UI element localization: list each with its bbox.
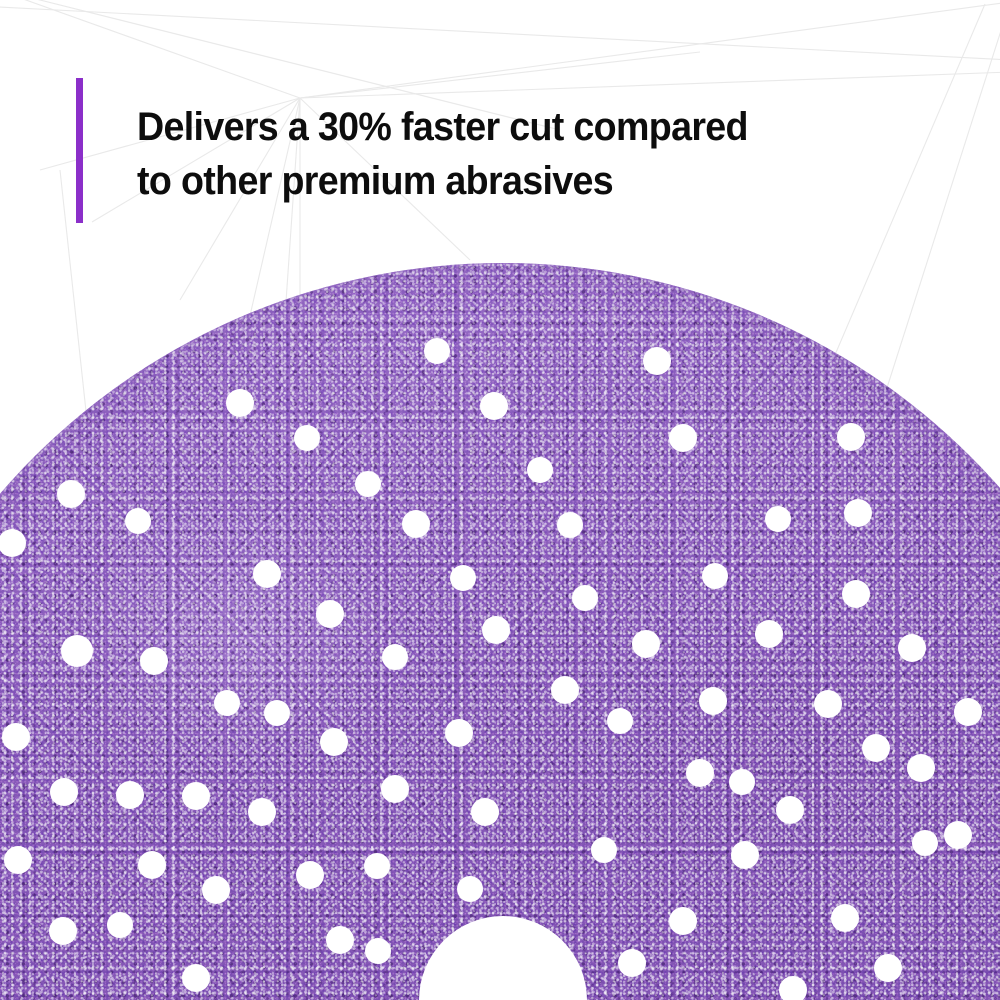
dust-extraction-hole <box>140 647 168 675</box>
dust-extraction-hole <box>320 728 348 756</box>
dust-extraction-hole <box>382 644 408 670</box>
dust-extraction-hole <box>49 917 77 945</box>
dust-extraction-hole <box>214 690 240 716</box>
dust-extraction-hole <box>0 529 26 557</box>
dust-extraction-hole <box>702 563 728 589</box>
dust-extraction-hole <box>125 508 151 534</box>
dust-extraction-hole <box>471 798 499 826</box>
dust-extraction-hole <box>450 565 476 591</box>
dust-extraction-hole <box>844 499 872 527</box>
dust-extraction-hole <box>842 580 870 608</box>
dust-extraction-hole <box>607 708 633 734</box>
dust-extraction-hole <box>779 976 807 1000</box>
dust-extraction-hole <box>551 676 579 704</box>
headline-line-1: Delivers a 30% faster cut compared <box>137 100 795 154</box>
headline-line-2: to other premium abrasives <box>137 154 795 208</box>
dust-extraction-hole <box>954 698 982 726</box>
dust-extraction-hole <box>944 821 972 849</box>
dust-extraction-hole <box>50 778 78 806</box>
dust-extraction-hole <box>618 949 646 977</box>
dust-extraction-hole <box>57 480 85 508</box>
dust-extraction-hole <box>264 700 290 726</box>
dust-extraction-hole <box>669 424 697 452</box>
dust-extraction-hole <box>837 423 865 451</box>
dust-extraction-hole <box>898 634 926 662</box>
dust-extraction-hole <box>424 338 450 364</box>
dust-extraction-hole <box>699 687 727 715</box>
dust-extraction-hole <box>182 782 210 810</box>
dust-extraction-hole <box>202 876 230 904</box>
dust-extraction-hole <box>226 389 254 417</box>
dust-extraction-hole <box>755 620 783 648</box>
dust-extraction-hole <box>182 964 210 992</box>
dust-extraction-hole <box>248 798 276 826</box>
abrasive-disc-surface <box>0 263 1000 1000</box>
dust-extraction-hole <box>4 846 32 874</box>
dust-extraction-hole <box>814 690 842 718</box>
dust-extraction-hole <box>686 759 714 787</box>
dust-extraction-hole <box>445 719 473 747</box>
dust-extraction-hole <box>669 907 697 935</box>
dust-extraction-hole <box>591 837 617 863</box>
dust-extraction-hole <box>61 635 93 667</box>
dust-extraction-hole <box>294 425 320 451</box>
dust-extraction-hole <box>874 954 902 982</box>
dust-extraction-hole <box>402 510 430 538</box>
dust-extraction-hole <box>482 616 510 644</box>
dust-extraction-hole <box>527 457 553 483</box>
dust-extraction-hole <box>912 830 938 856</box>
dust-extraction-hole <box>138 851 166 879</box>
dust-extraction-hole <box>731 841 759 869</box>
dust-extraction-hole <box>355 471 381 497</box>
dust-extraction-hole <box>381 775 409 803</box>
feature-headline: Delivers a 30% faster cut compared to ot… <box>137 100 837 208</box>
dust-extraction-hole <box>776 796 804 824</box>
dust-extraction-hole <box>116 781 144 809</box>
dust-extraction-hole <box>365 938 391 964</box>
dust-extraction-hole <box>765 506 791 532</box>
dust-extraction-hole <box>296 861 324 889</box>
dust-extraction-hole <box>457 876 483 902</box>
dust-extraction-hole <box>729 769 755 795</box>
dust-extraction-hole <box>572 585 598 611</box>
dust-extraction-hole <box>364 853 390 879</box>
dust-extraction-hole <box>480 392 508 420</box>
dust-extraction-hole <box>316 600 344 628</box>
product-feature-image: Delivers a 30% faster cut compared to ot… <box>0 0 1000 1000</box>
dust-extraction-hole <box>632 630 660 658</box>
purple-accent-bar <box>76 78 83 223</box>
dust-extraction-hole <box>831 904 859 932</box>
dust-extraction-hole <box>2 723 30 751</box>
dust-extraction-hole <box>557 512 583 538</box>
dust-extraction-hole <box>107 912 133 938</box>
center-mounting-hole <box>419 916 587 1000</box>
dust-extraction-hole <box>907 754 935 782</box>
dust-extraction-hole <box>862 734 890 762</box>
dust-extraction-hole <box>643 347 671 375</box>
dust-extraction-hole <box>253 560 281 588</box>
dust-extraction-hole <box>326 926 354 954</box>
